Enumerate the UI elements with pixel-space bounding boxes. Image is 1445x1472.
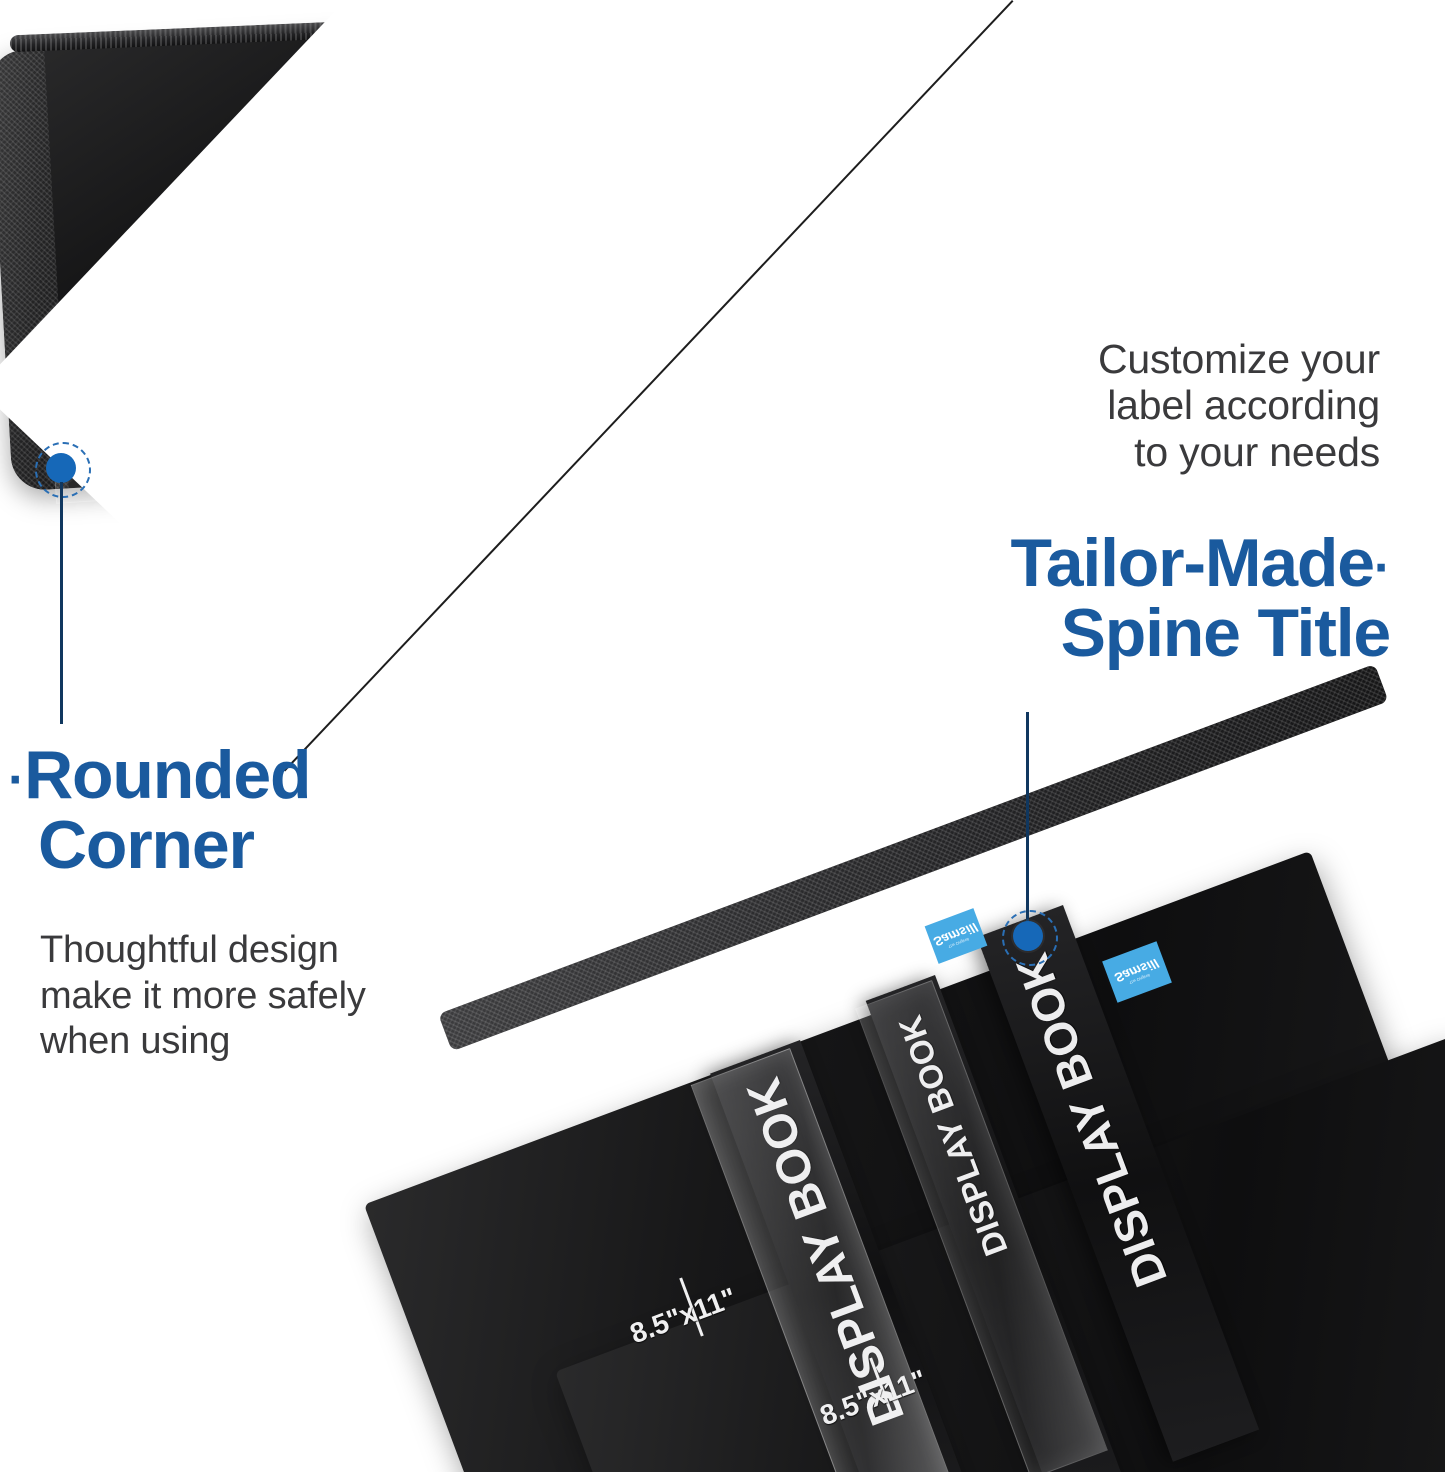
left-body-line-1: Thoughtful design <box>40 928 600 974</box>
right-kicker: Customize your label according to your n… <box>820 336 1380 475</box>
right-kicker-line-1: Customize your <box>820 336 1380 382</box>
right-headline-line-1: Tailor-Made· <box>810 528 1390 598</box>
callout-leader-left <box>60 482 63 724</box>
right-kicker-line-2: label according <box>820 382 1380 428</box>
callout-leader-right <box>1026 712 1029 936</box>
left-body-line-2: make it more safely <box>40 974 600 1020</box>
product-infographic: The Original Digital Printer Album Perfe… <box>0 0 1445 1472</box>
left-body: Thoughtful design make it more safely wh… <box>40 928 600 1065</box>
left-headline-bullet: · <box>8 751 24 809</box>
left-body-line-3: when using <box>40 1019 600 1065</box>
right-kicker-line-3: to your needs <box>820 429 1380 475</box>
callout-dot-right <box>1013 921 1043 951</box>
callout-dot-left <box>46 453 76 483</box>
brand-logo-1: Samsill The Original <box>925 908 988 964</box>
right-headline-line-2: Spine Title <box>810 598 1390 668</box>
bottom-right-product-photo: DISPLAY BOOK Samsill The Original DISPLA… <box>0 0 1445 1472</box>
right-headline-text-1: Tailor-Made <box>1011 525 1374 601</box>
right-headline-bullet: · <box>1374 539 1390 597</box>
left-headline-line-1: ·Rounded <box>8 740 608 810</box>
right-headline: Tailor-Made· Spine Title <box>810 528 1390 668</box>
left-headline-text-1: Rounded <box>24 737 310 813</box>
left-headline-line-2: Corner <box>8 810 608 880</box>
left-headline: ·Rounded Corner <box>8 740 608 880</box>
